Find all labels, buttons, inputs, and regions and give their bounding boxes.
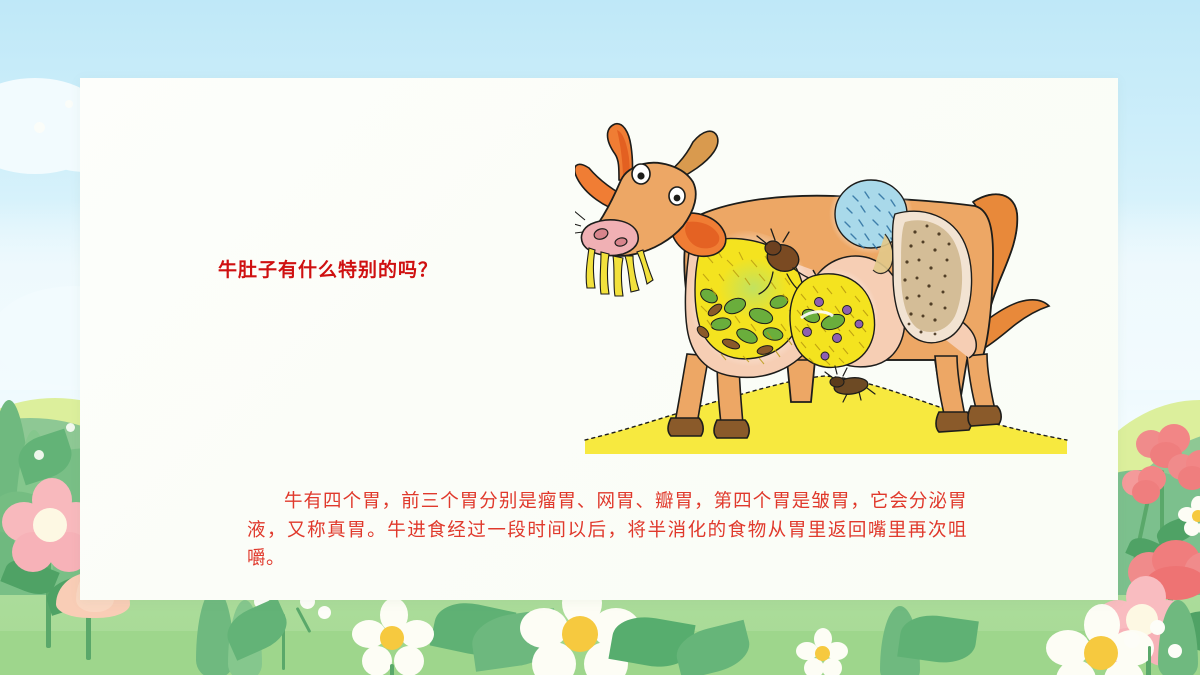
daisy-center — [815, 646, 830, 661]
hill-dot-2 — [65, 100, 73, 108]
daisy-center — [1192, 510, 1200, 522]
coral-flower-right-2 — [1168, 450, 1200, 492]
page-title: 牛肚子有什么特别的吗？ — [218, 255, 438, 282]
baby-breath-bud-r3 — [1168, 644, 1182, 658]
hill-dot-1 — [34, 122, 45, 133]
daisy-petal — [520, 608, 568, 648]
hill-dot-4 — [34, 450, 44, 460]
body-paragraph: 牛有四个胃，前三个胃分别是瘤胃、网胃、瓣胃，第四个胃是皱胃，它会分泌胃液，又称真… — [247, 488, 967, 574]
daisy-left-3 — [796, 628, 848, 675]
baby-breath-stem-right — [1148, 646, 1151, 675]
daisy-petal — [362, 646, 392, 675]
daisy-right-1 — [1178, 496, 1200, 536]
baby-breath-bud-r2 — [1150, 620, 1165, 635]
daisy-center — [562, 616, 598, 652]
daisy-center — [1084, 636, 1118, 670]
hill-dot-3 — [66, 423, 75, 432]
slide-canvas: 牛肚子有什么特别的吗？ 牛有四个胃，前三个胃分别是瘤胃、网胃、瓣胃，第四个胃是皱… — [0, 0, 1200, 675]
baby-breath-bud-4 — [318, 606, 331, 619]
daisy-stem-left-1 — [390, 664, 394, 675]
daisy-petal — [394, 646, 424, 675]
daisy-petal — [400, 620, 434, 648]
cow-head — [575, 124, 726, 257]
stomach-omasum — [787, 268, 879, 368]
daisy-center — [380, 626, 404, 650]
baby-breath-bud-r1 — [1124, 632, 1140, 648]
cow-illustration — [575, 110, 1075, 460]
coral-flower-right-3 — [1122, 466, 1168, 506]
